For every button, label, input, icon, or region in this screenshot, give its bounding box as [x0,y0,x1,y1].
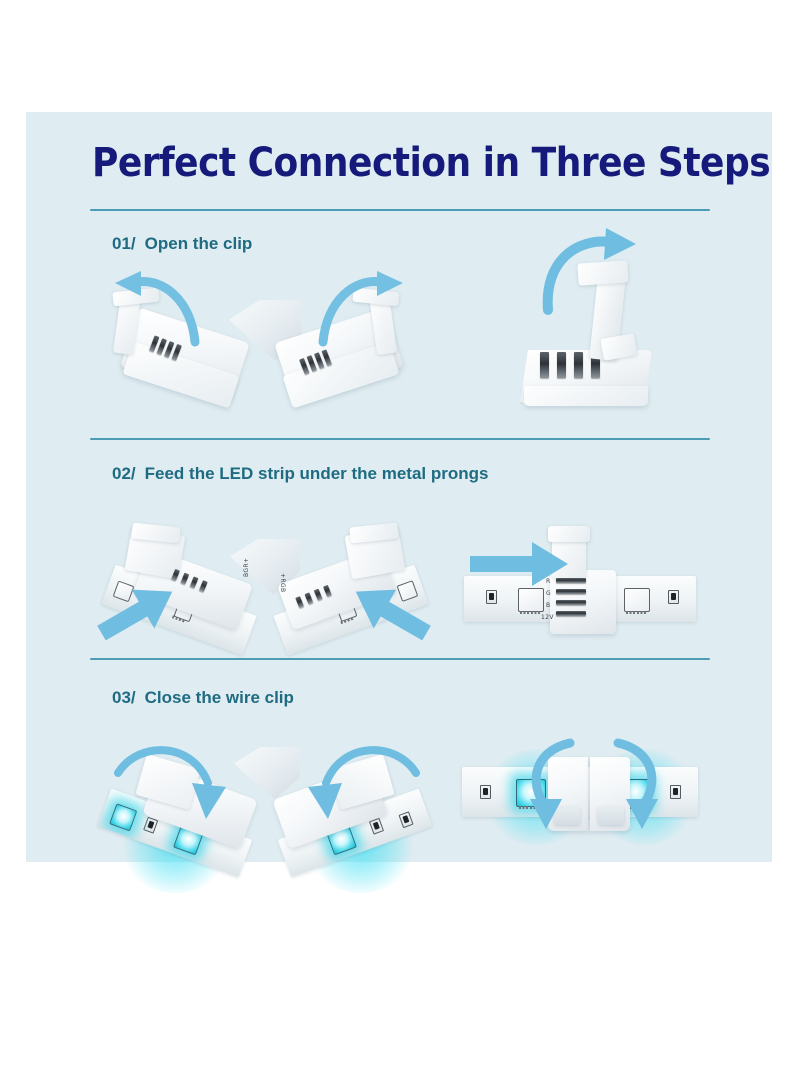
prong [304,592,313,604]
prong [540,352,549,378]
prong [190,576,199,588]
pin-label-right: +RGB [279,573,286,593]
prong [556,611,586,616]
step-1-number: 01/ [112,234,136,253]
divider-3 [90,658,710,660]
led-chip [624,588,650,612]
illustration-l-connector-strips-inserted: BGR+ +RGB [100,515,430,665]
open-arrow-left-icon [107,270,217,350]
resistor [668,590,679,604]
open-arrow-closeup-icon [534,232,654,322]
illustration-straight-connector-strip-closeup: R G B 12V [456,520,706,650]
feed-arrow-closeup-icon [470,534,580,594]
step-1-text: Open the clip [145,234,253,253]
illustration-l-connector-clips-closed-lit [100,735,430,880]
illustration-l-shaped-connector-clips-open [105,272,405,437]
divider-1 [90,209,710,211]
open-arrow-right-icon [301,270,411,350]
step-3-text: Close the wire clip [145,688,294,707]
pin-label-12v: 12V [541,614,554,621]
illustration-single-clip-open-closeup [510,240,700,420]
prong [314,589,323,601]
pin-label-b: B [546,602,551,609]
resistor [670,785,681,799]
prong [557,352,566,378]
closeup-connector-front [524,386,648,406]
step-3-number: 03/ [112,688,136,707]
feed-arrow-left-icon [94,577,184,647]
illustration-straight-connector-closed-lit [456,735,706,865]
solder-pad [520,611,540,614]
prong [574,352,583,378]
feed-arrow-right-icon [344,577,434,647]
infographic-root: Perfect Connection in Three Steps 01/Ope… [0,0,800,1091]
close-arrow-closeup-right-icon [574,737,664,837]
solder-pad [626,611,646,614]
close-arrow-left-icon [114,739,244,849]
step-3-label: 03/Close the wire clip [112,688,294,708]
step-2-text: Feed the LED strip under the metal prong… [145,464,489,483]
resistor [480,785,491,799]
page-title: Perfect Connection in Three Steps [92,140,712,186]
step-1-label: 01/Open the clip [112,234,252,254]
divider-2 [90,438,710,440]
pin-label-left: BGR+ [243,558,250,577]
prong [556,600,586,605]
step-2-number: 02/ [112,464,136,483]
close-arrow-right-icon [290,739,420,849]
step-2-label: 02/Feed the LED strip under the metal pr… [112,464,488,484]
